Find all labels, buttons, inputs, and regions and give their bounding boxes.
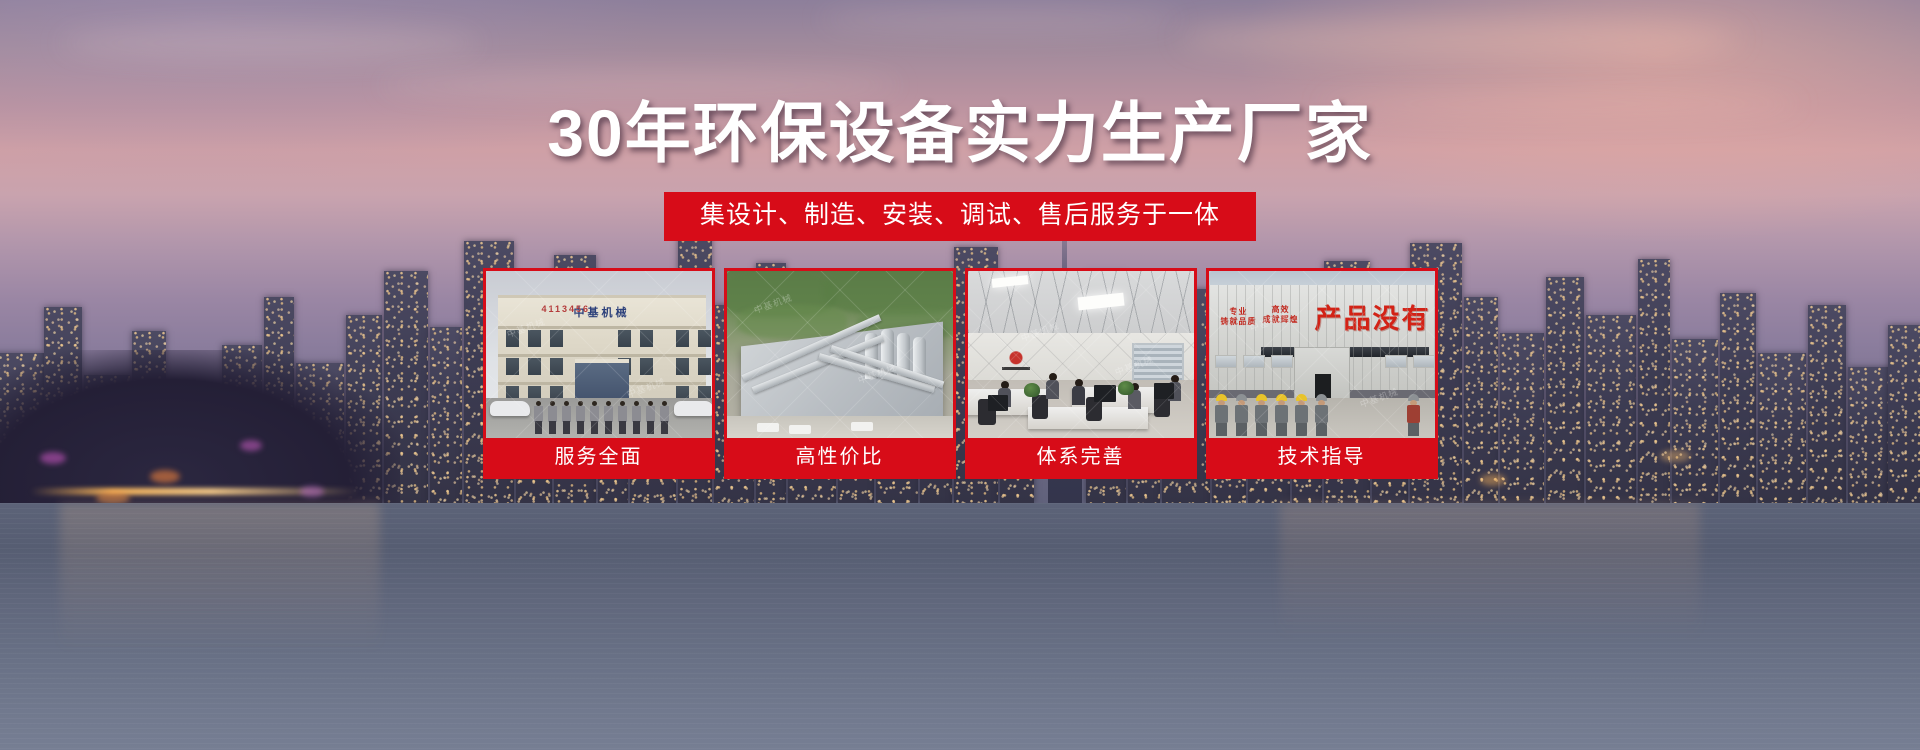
feature-card[interactable]: 中基机械 中基机械 高性价比 [724,268,956,479]
hero-banner: 30年环保设备实力生产厂家 集设计、制造、安装、调试、售后服务于一体 中基机械 … [0,0,1920,750]
feature-card-list: 中基机械 4113456 [483,268,1438,479]
page-title: 30年环保设备实力生产厂家 [547,100,1372,166]
aerial-industrial-plant-photo: 中基机械 中基机械 [727,271,953,438]
factory-slogan-4: 成就辉煌 [1263,315,1299,324]
office-interior-staff-photo: 中基机械 中基机械 [968,271,1194,438]
subtitle-banner: 集设计、制造、安装、调试、售后服务于一体 [664,192,1256,241]
building-phone-text: 4113456 [542,304,591,314]
factory-slogan-2: 铸就品质 [1221,317,1257,326]
company-headquarters-building-photo: 中基机械 4113456 [486,271,712,438]
factory-sign-text: 产品没有 [1315,297,1431,336]
feature-card-caption: 服务全面 [486,438,712,476]
factory-slogan-1: 专业 [1230,307,1248,316]
feature-card[interactable]: 中基机械 中基机械 体系完善 [965,268,1197,479]
feature-card-caption: 体系完善 [968,438,1194,476]
banner-content: 30年环保设备实力生产厂家 集设计、制造、安装、调试、售后服务于一体 中基机械 … [0,0,1920,750]
feature-card-caption: 高性价比 [727,438,953,476]
feature-card-caption: 技术指导 [1209,438,1435,476]
feature-card[interactable]: 中基机械 4113456 [483,268,715,479]
factory-workshop-workers-photo: 产品没有 专业 铸就品质 高效 成就辉煌 [1209,271,1435,438]
factory-slogan-3: 高效 [1272,305,1290,314]
feature-card[interactable]: 产品没有 专业 铸就品质 高效 成就辉煌 [1206,268,1438,479]
wall-logo-icon [1002,349,1030,371]
